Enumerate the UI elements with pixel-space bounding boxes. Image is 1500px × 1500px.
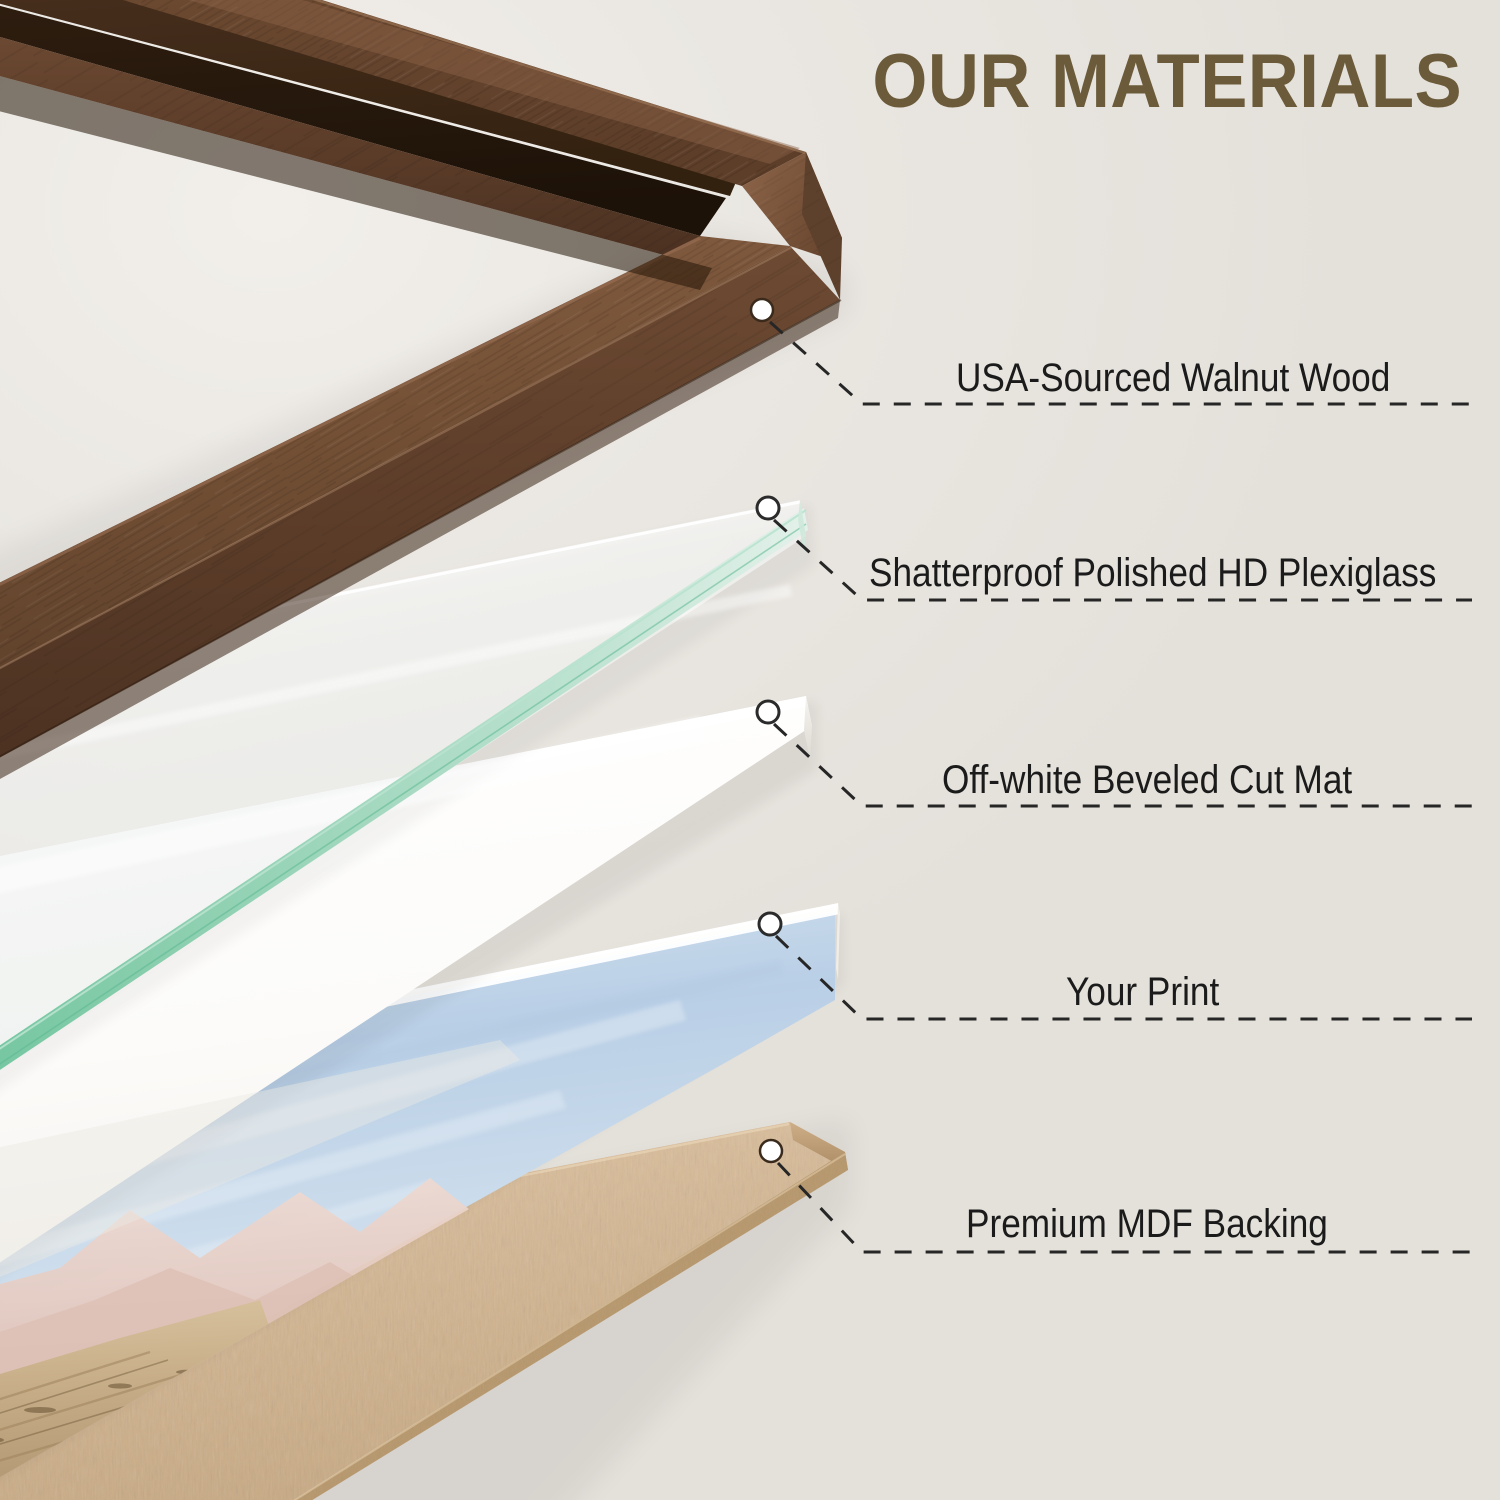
callout-label-1: USA-Sourced Walnut Wood <box>956 358 1390 398</box>
callout-marker-4[interactable] <box>759 913 781 935</box>
callout-marker-1[interactable] <box>751 299 773 321</box>
callout-label-4: Your Print <box>1066 972 1219 1012</box>
page-title: OUR MATERIALS <box>872 44 1462 120</box>
infographic-canvas: OUR MATERIALS USA-Sourced Walnut Wood Sh… <box>0 0 1500 1500</box>
callout-marker-5[interactable] <box>760 1140 782 1162</box>
callout-marker-3[interactable] <box>757 701 779 723</box>
exploded-frame-illustration <box>0 0 1500 1500</box>
callout-label-3: Off-white Beveled Cut Mat <box>942 760 1352 800</box>
callout-label-2: Shatterproof Polished HD Plexiglass <box>869 553 1436 593</box>
callout-label-5: Premium MDF Backing <box>966 1204 1328 1244</box>
callout-marker-2[interactable] <box>757 497 779 519</box>
